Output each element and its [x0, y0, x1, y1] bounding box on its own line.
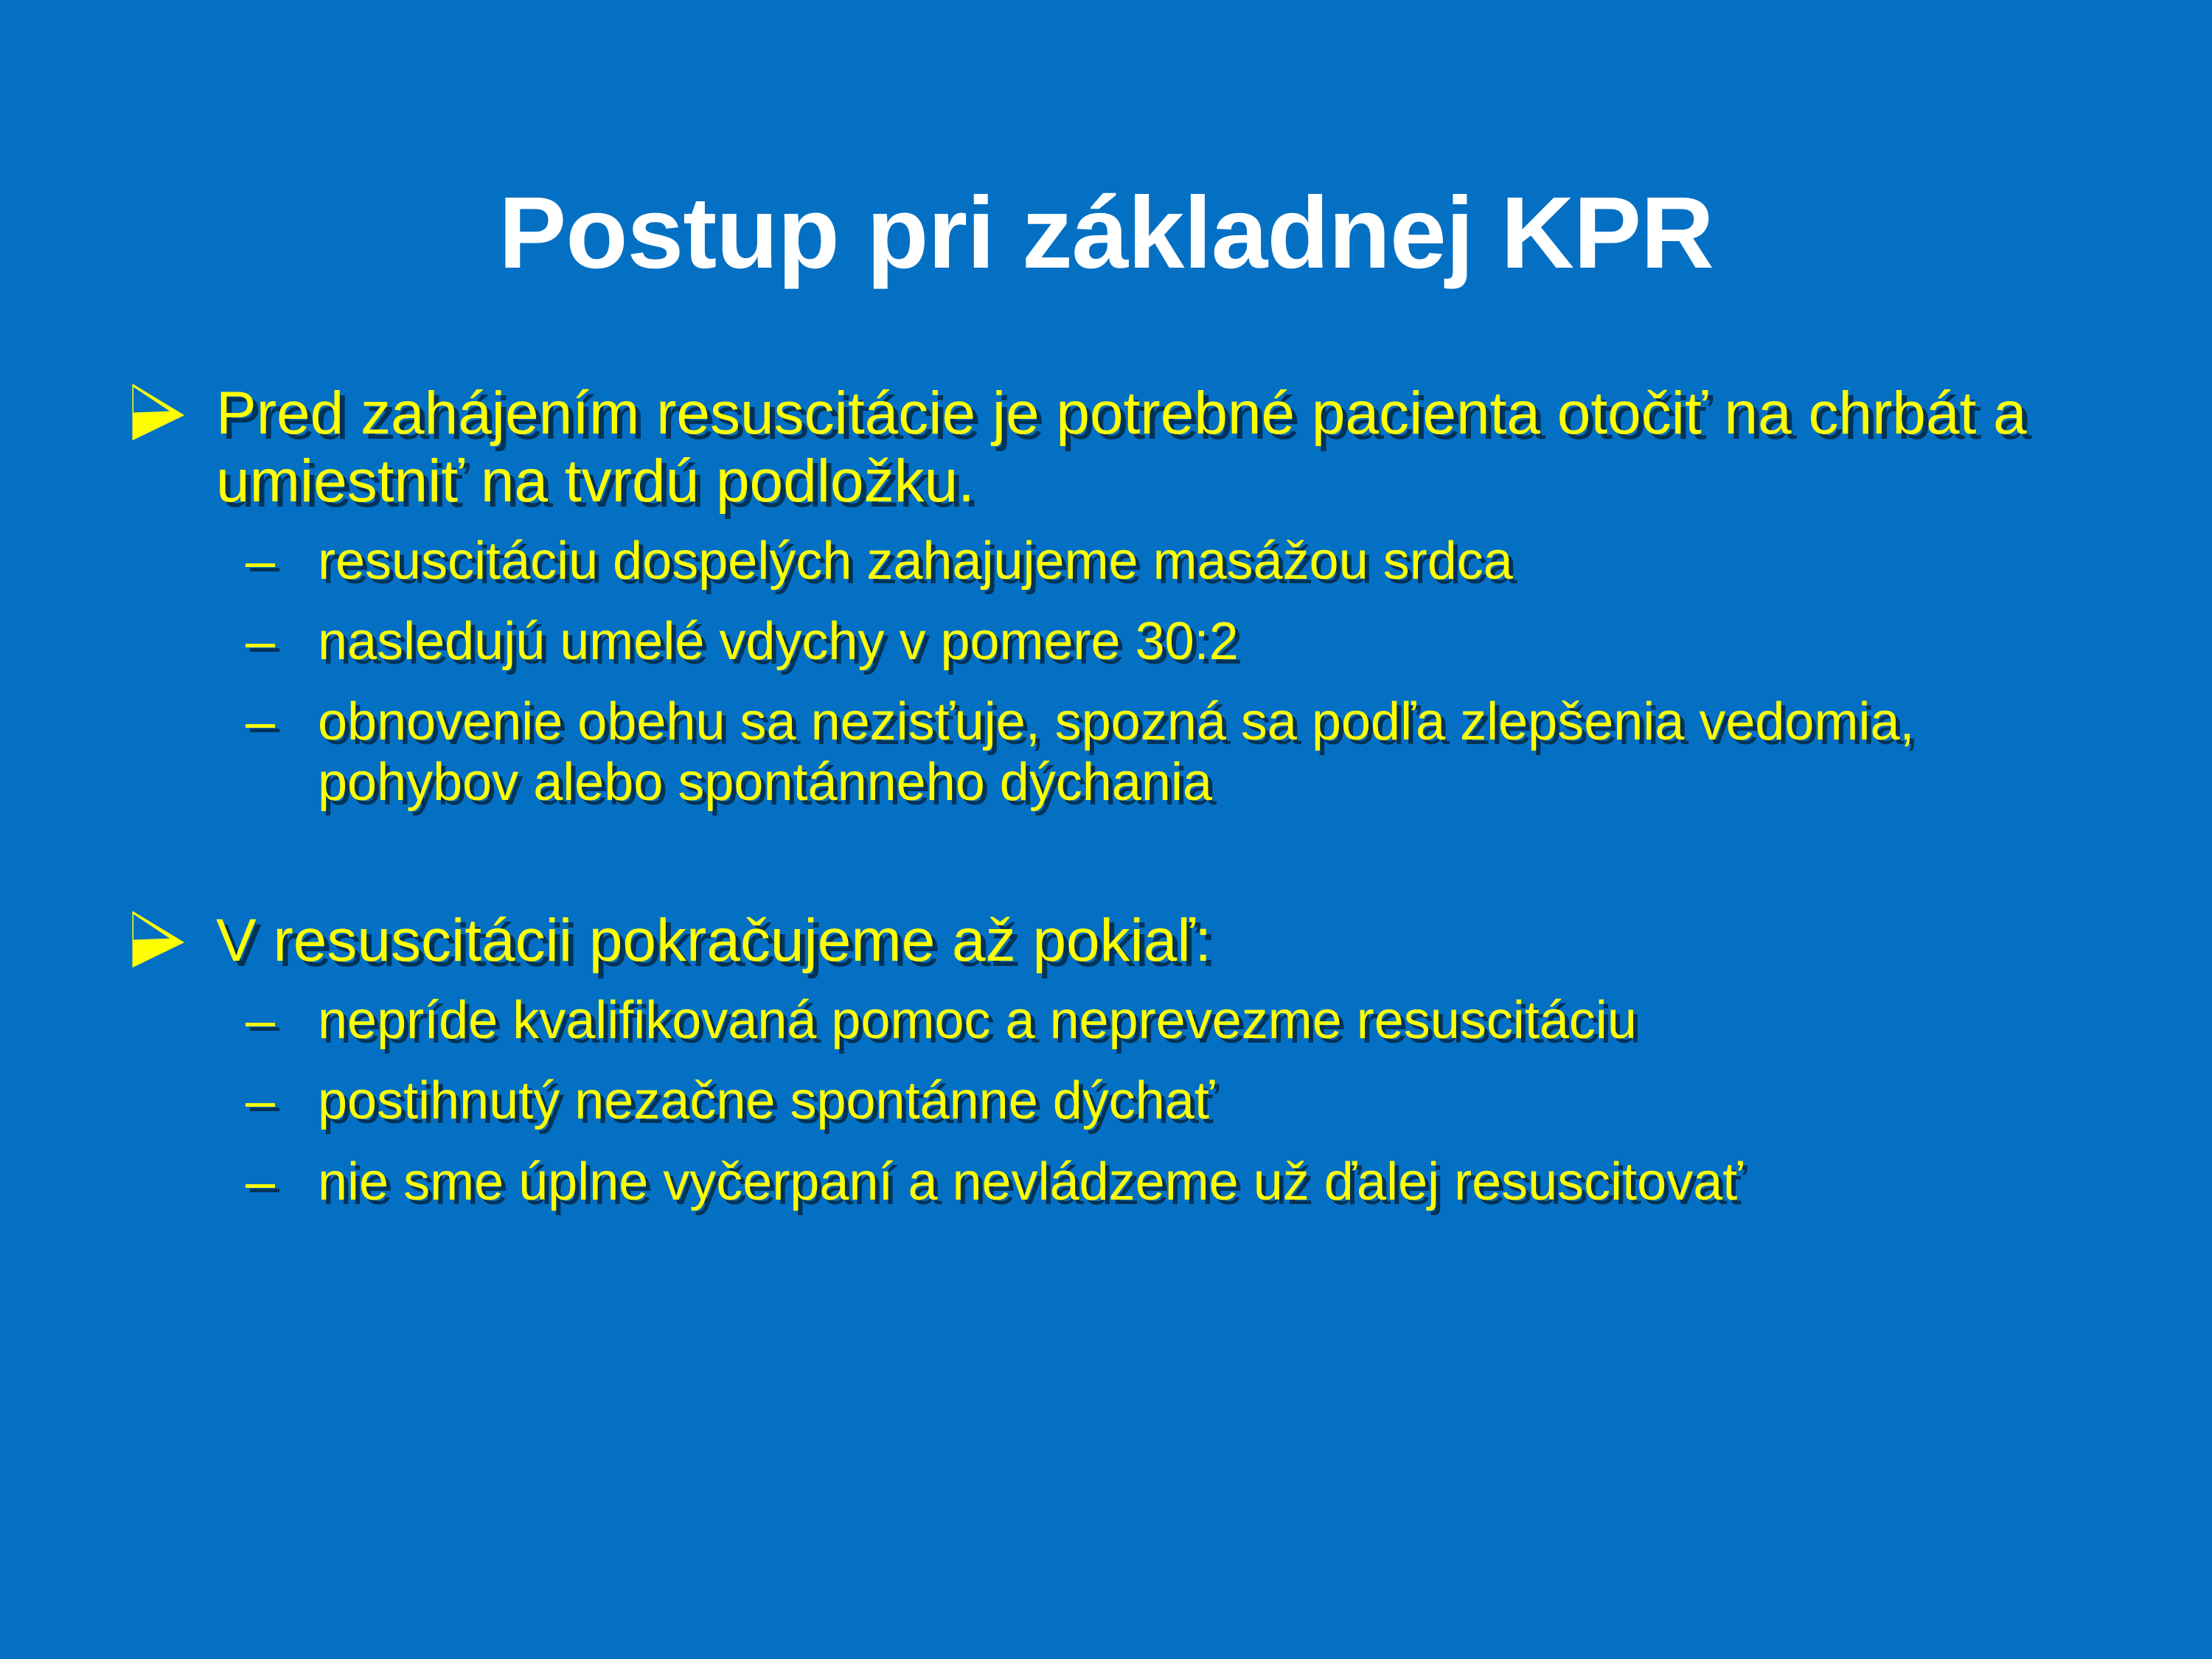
page-title: Postup pri základnej KPR [498, 178, 1714, 288]
dash-bullet-icon: – [246, 692, 318, 752]
bullet-item-level2: – obnovenie obehu sa nezisťuje, spozná s… [129, 692, 2120, 813]
dash-bullet-icon: – [246, 1071, 318, 1131]
bullet-text: resuscitáciu dospelých zahajujeme masážo… [318, 532, 2117, 591]
group-spacer [129, 813, 2120, 907]
bullet-text: obnovenie obehu sa nezisťuje, spozná sa … [318, 692, 2117, 813]
bullet-item-level2: – nepríde kvalifikovaná pomoc a neprevez… [129, 991, 2120, 1051]
sub-bullet-list: – resuscitáciu dospelých zahajujeme masá… [129, 532, 2120, 813]
slide-body: Pred zahájením resuscitácie je potrebné … [129, 380, 2120, 1212]
bullet-text: postihnutý nezačne spontánne dýchať [318, 1071, 2117, 1131]
presentation-slide: Postup pri základnej KPR Pred zahájením … [0, 0, 2212, 1659]
bullet-text: Pred zahájením resuscitácie je potrebné … [216, 380, 2120, 515]
bullet-item-level1: Pred zahájením resuscitácie je potrebné … [129, 380, 2120, 515]
bullet-item-level2: – nasledujú umelé vdychy v pomere 30:2 [129, 612, 2120, 672]
bullet-text: nasledujú umelé vdychy v pomere 30:2 [318, 612, 2117, 672]
dash-bullet-icon: – [246, 612, 318, 672]
sub-bullet-list: – nepríde kvalifikovaná pomoc a neprevez… [129, 991, 2120, 1212]
dash-bullet-icon: – [246, 1152, 318, 1212]
bullet-item-level2: – resuscitáciu dospelých zahajujeme masá… [129, 532, 2120, 591]
bullet-item-level1: V resuscitácii pokračujeme až pokiaľ: [129, 907, 2120, 975]
arrowhead-bullet-icon [129, 910, 216, 969]
arrowhead-bullet-icon [129, 383, 216, 442]
bullet-item-level2: – nie sme úplne vyčerpaní a nevládzeme u… [129, 1152, 2120, 1212]
dash-bullet-icon: – [246, 532, 318, 591]
bullet-text: nepríde kvalifikovaná pomoc a neprevezme… [318, 991, 2117, 1051]
bullet-group: V resuscitácii pokračujeme až pokiaľ: – … [129, 907, 2120, 1212]
title-block: Postup pri základnej KPR [0, 111, 2212, 357]
bullet-text: V resuscitácii pokračujeme až pokiaľ: [216, 907, 2120, 975]
bullet-item-level2: – postihnutý nezačne spontánne dýchať [129, 1071, 2120, 1131]
bullet-group: Pred zahájením resuscitácie je potrebné … [129, 380, 2120, 813]
dash-bullet-icon: – [246, 991, 318, 1051]
bullet-text: nie sme úplne vyčerpaní a nevládzeme už … [318, 1152, 2117, 1212]
